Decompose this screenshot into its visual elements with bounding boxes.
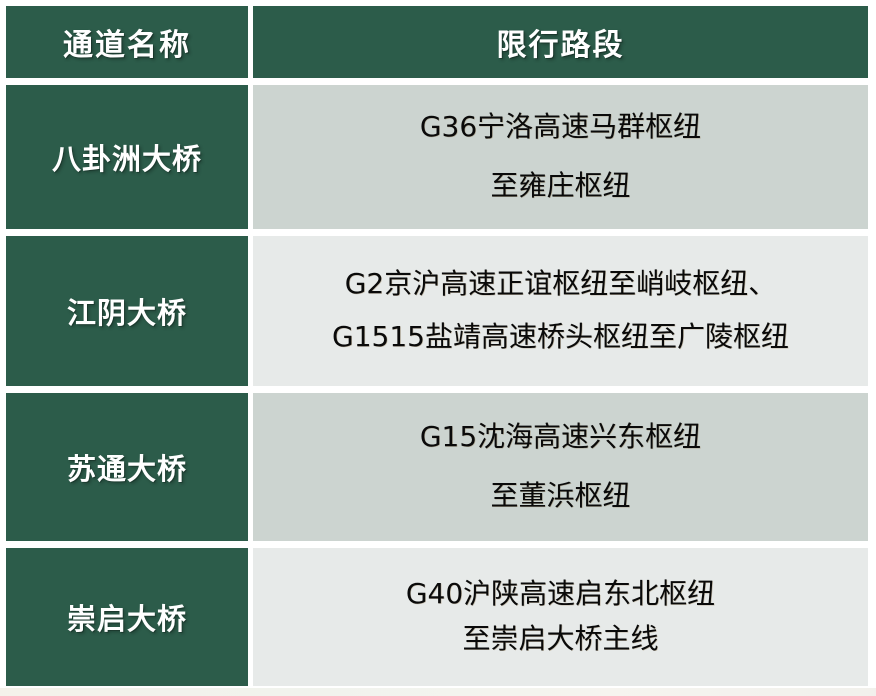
channel-name-label: 苏通大桥 bbox=[67, 446, 187, 488]
channel-name-label: 八卦洲大桥 bbox=[52, 136, 202, 178]
cell-channel-name: 苏通大桥 bbox=[6, 393, 248, 541]
table-row: 江阴大桥 G2京沪高速正谊枢纽至峭岐枢纽、 G1515盐靖高速桥头枢纽至广陵枢纽 bbox=[0, 236, 876, 386]
restricted-section-line: G2京沪高速正谊枢纽至峭岐枢纽、 bbox=[345, 264, 777, 305]
page-bottom-edge bbox=[0, 688, 876, 696]
cell-restricted-section: G2京沪高速正谊枢纽至峭岐枢纽、 G1515盐靖高速桥头枢纽至广陵枢纽 bbox=[253, 236, 868, 386]
restricted-section-line: 至董浜枢纽 bbox=[490, 476, 630, 517]
cell-channel-name: 江阴大桥 bbox=[6, 236, 248, 386]
table-header-row: 通道名称 限行路段 bbox=[0, 0, 876, 78]
cell-channel-name: 八卦洲大桥 bbox=[6, 85, 248, 229]
channel-name-label: 崇启大桥 bbox=[67, 596, 187, 638]
table-row: 八卦洲大桥 G36宁洛高速马群枢纽 至雍庄枢纽 bbox=[0, 85, 876, 229]
column-header-channel-name-label: 通道名称 bbox=[63, 20, 191, 64]
cell-channel-name: 崇启大桥 bbox=[6, 548, 248, 686]
table-row: 苏通大桥 G15沈海高速兴东枢纽 至董浜枢纽 bbox=[0, 393, 876, 541]
table-row: 崇启大桥 G40沪陕高速启东北枢纽 至崇启大桥主线 bbox=[0, 548, 876, 686]
restricted-section-line: 至崇启大桥主线 bbox=[462, 619, 658, 660]
restricted-section-line: G36宁洛高速马群枢纽 bbox=[420, 107, 701, 148]
cell-restricted-section: G15沈海高速兴东枢纽 至董浜枢纽 bbox=[253, 393, 868, 541]
restricted-section-line: G1515盐靖高速桥头枢纽至广陵枢纽 bbox=[332, 317, 789, 358]
channel-name-label: 江阴大桥 bbox=[67, 290, 187, 332]
column-header-channel-name: 通道名称 bbox=[6, 6, 248, 78]
restricted-section-line: G40沪陕高速启东北枢纽 bbox=[406, 574, 715, 615]
column-header-restricted-section-label: 限行路段 bbox=[497, 20, 625, 64]
restricted-section-line: 至雍庄枢纽 bbox=[490, 166, 630, 207]
cell-restricted-section: G36宁洛高速马群枢纽 至雍庄枢纽 bbox=[253, 85, 868, 229]
restricted-section-line: G15沈海高速兴东枢纽 bbox=[420, 417, 701, 458]
restricted-sections-table: 通道名称 限行路段 八卦洲大桥 G36宁洛高速马群枢纽 至雍庄枢纽 江阴大桥 G… bbox=[0, 0, 876, 696]
column-header-restricted-section: 限行路段 bbox=[253, 6, 868, 78]
cell-restricted-section: G40沪陕高速启东北枢纽 至崇启大桥主线 bbox=[253, 548, 868, 686]
